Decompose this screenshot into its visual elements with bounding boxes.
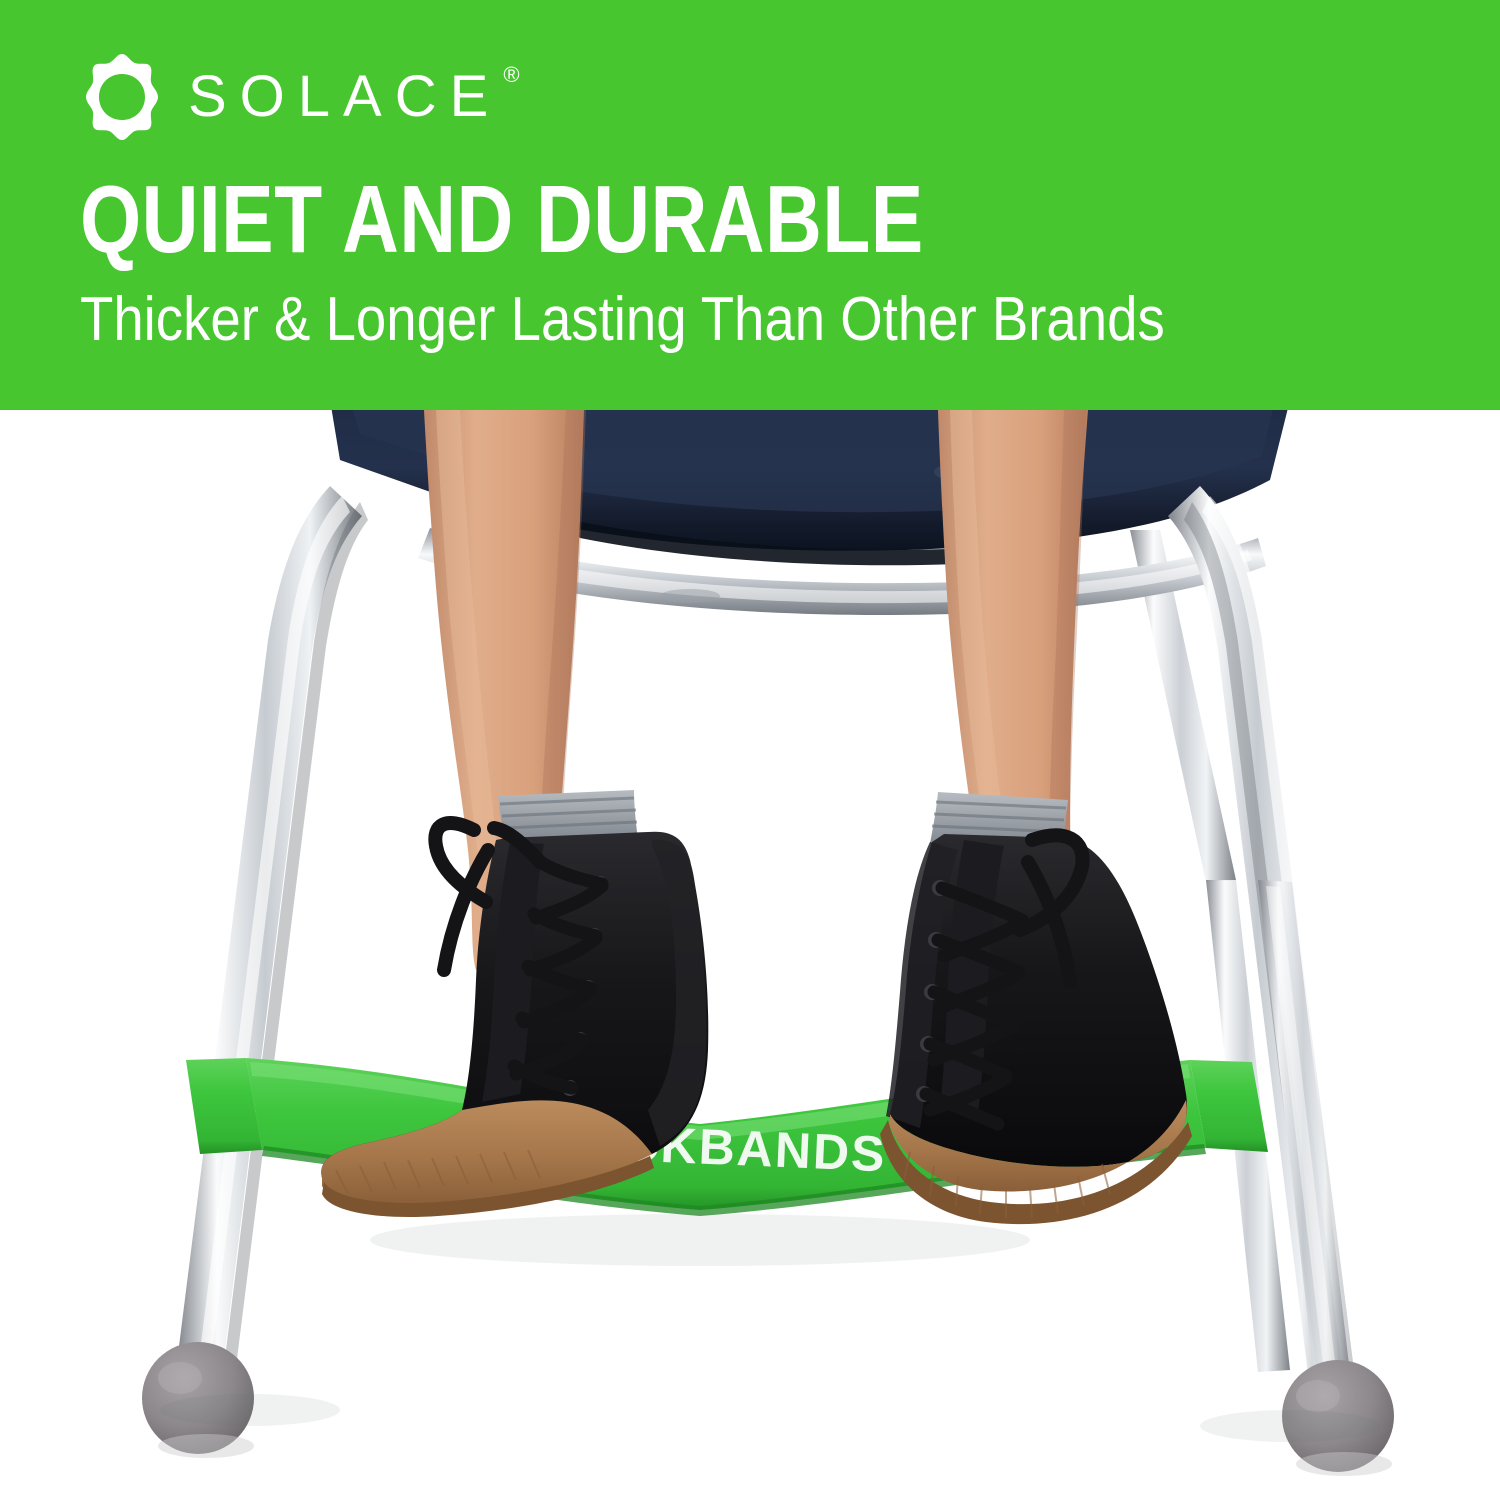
- product-marketing-image: SOLACE® QUIET AND DURABLE Thicker & Long…: [0, 0, 1500, 1500]
- brand-logo: SOLACE®: [80, 52, 518, 142]
- logo-wordmark: SOLACE®: [188, 68, 518, 126]
- registered-trademark-icon: ®: [503, 62, 519, 87]
- page-subtitle: Thicker & Longer Lasting Than Other Bran…: [80, 289, 1165, 351]
- solace-hexstar-icon: [80, 52, 164, 142]
- logo-wordmark-text: SOLACE: [188, 64, 501, 129]
- page-headline: QUIET AND DURABLE: [80, 172, 924, 268]
- product-photo: SOLACE KICKBANDS: [0, 410, 1500, 1500]
- header-banner: SOLACE® QUIET AND DURABLE Thicker & Long…: [0, 0, 1500, 410]
